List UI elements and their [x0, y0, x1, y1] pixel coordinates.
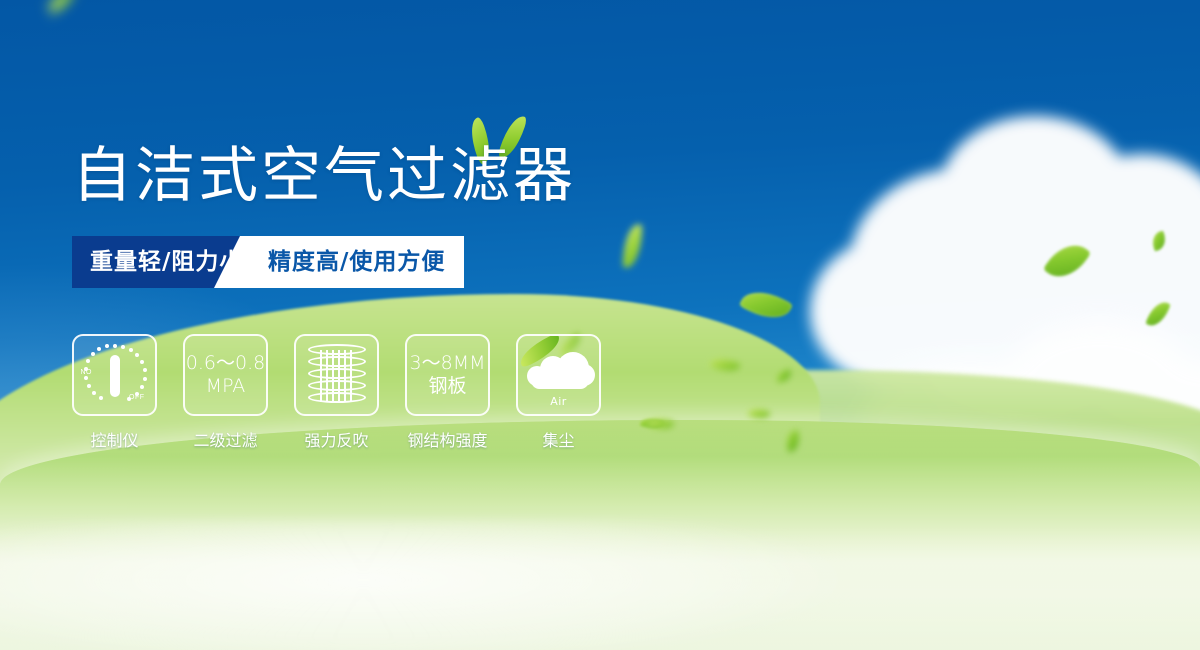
feature-text-line1: 3～8MM: [410, 352, 486, 375]
subtitle-left-text: 重量轻/阻力小: [90, 247, 243, 277]
feature-text-line1: 0.6～0.8: [186, 352, 265, 375]
feature-icon-box: NO OFF: [72, 334, 157, 416]
product-banner: 自洁式空气过滤器 重量轻/阻力小 精度高/使用方便: [0, 0, 1200, 650]
page-title: 自洁式空气过滤器: [72, 142, 576, 210]
feature-label: 强力反吹: [304, 427, 368, 451]
feature-text: 0.6～0.8 MPA: [186, 352, 265, 398]
feature-icon-box: 3～8MM 钢板: [405, 334, 490, 416]
filter-stack-icon: [308, 344, 366, 406]
gauge-needle: [110, 355, 120, 397]
feature-label: 钢结构强度: [407, 427, 487, 451]
feature-item-steel-strength[interactable]: 3～8MM 钢板 钢结构强度: [405, 334, 490, 451]
feature-icon-box: [294, 334, 379, 416]
gauge-label-off: OFF: [129, 394, 145, 401]
feature-item-two-stage-filter[interactable]: 0.6～0.8 MPA 二级过滤: [183, 334, 268, 451]
gauge-dial-icon: NO OFF: [83, 343, 147, 407]
feature-item-reverse-blow[interactable]: 强力反吹: [294, 334, 379, 451]
feature-label: 集尘: [542, 427, 574, 451]
feature-text-line2: MPA: [186, 375, 265, 398]
gauge-label-on: NO: [81, 369, 93, 376]
cloud-air-caption: Air: [523, 395, 595, 408]
feature-text-line2: 钢板: [410, 375, 486, 398]
feature-list: NO OFF 控制仪 0.6～0.8 MPA 二级过滤: [72, 334, 601, 451]
cloud-air-icon: Air: [523, 344, 595, 406]
feature-text: 3～8MM 钢板: [410, 352, 486, 398]
feature-label: 控制仪: [90, 427, 138, 451]
grass-path-highlight: [0, 520, 1080, 650]
feature-item-control-meter[interactable]: NO OFF 控制仪: [72, 334, 157, 451]
feature-icon-box: 0.6～0.8 MPA: [183, 334, 268, 416]
subtitle-right-text: 精度高/使用方便: [268, 247, 445, 277]
feature-label: 二级过滤: [193, 427, 257, 451]
subtitle-bar: 重量轻/阻力小 精度高/使用方便: [72, 236, 464, 288]
feature-icon-box: Air: [516, 334, 601, 416]
feature-item-dust-collection[interactable]: Air 集尘: [516, 334, 601, 451]
